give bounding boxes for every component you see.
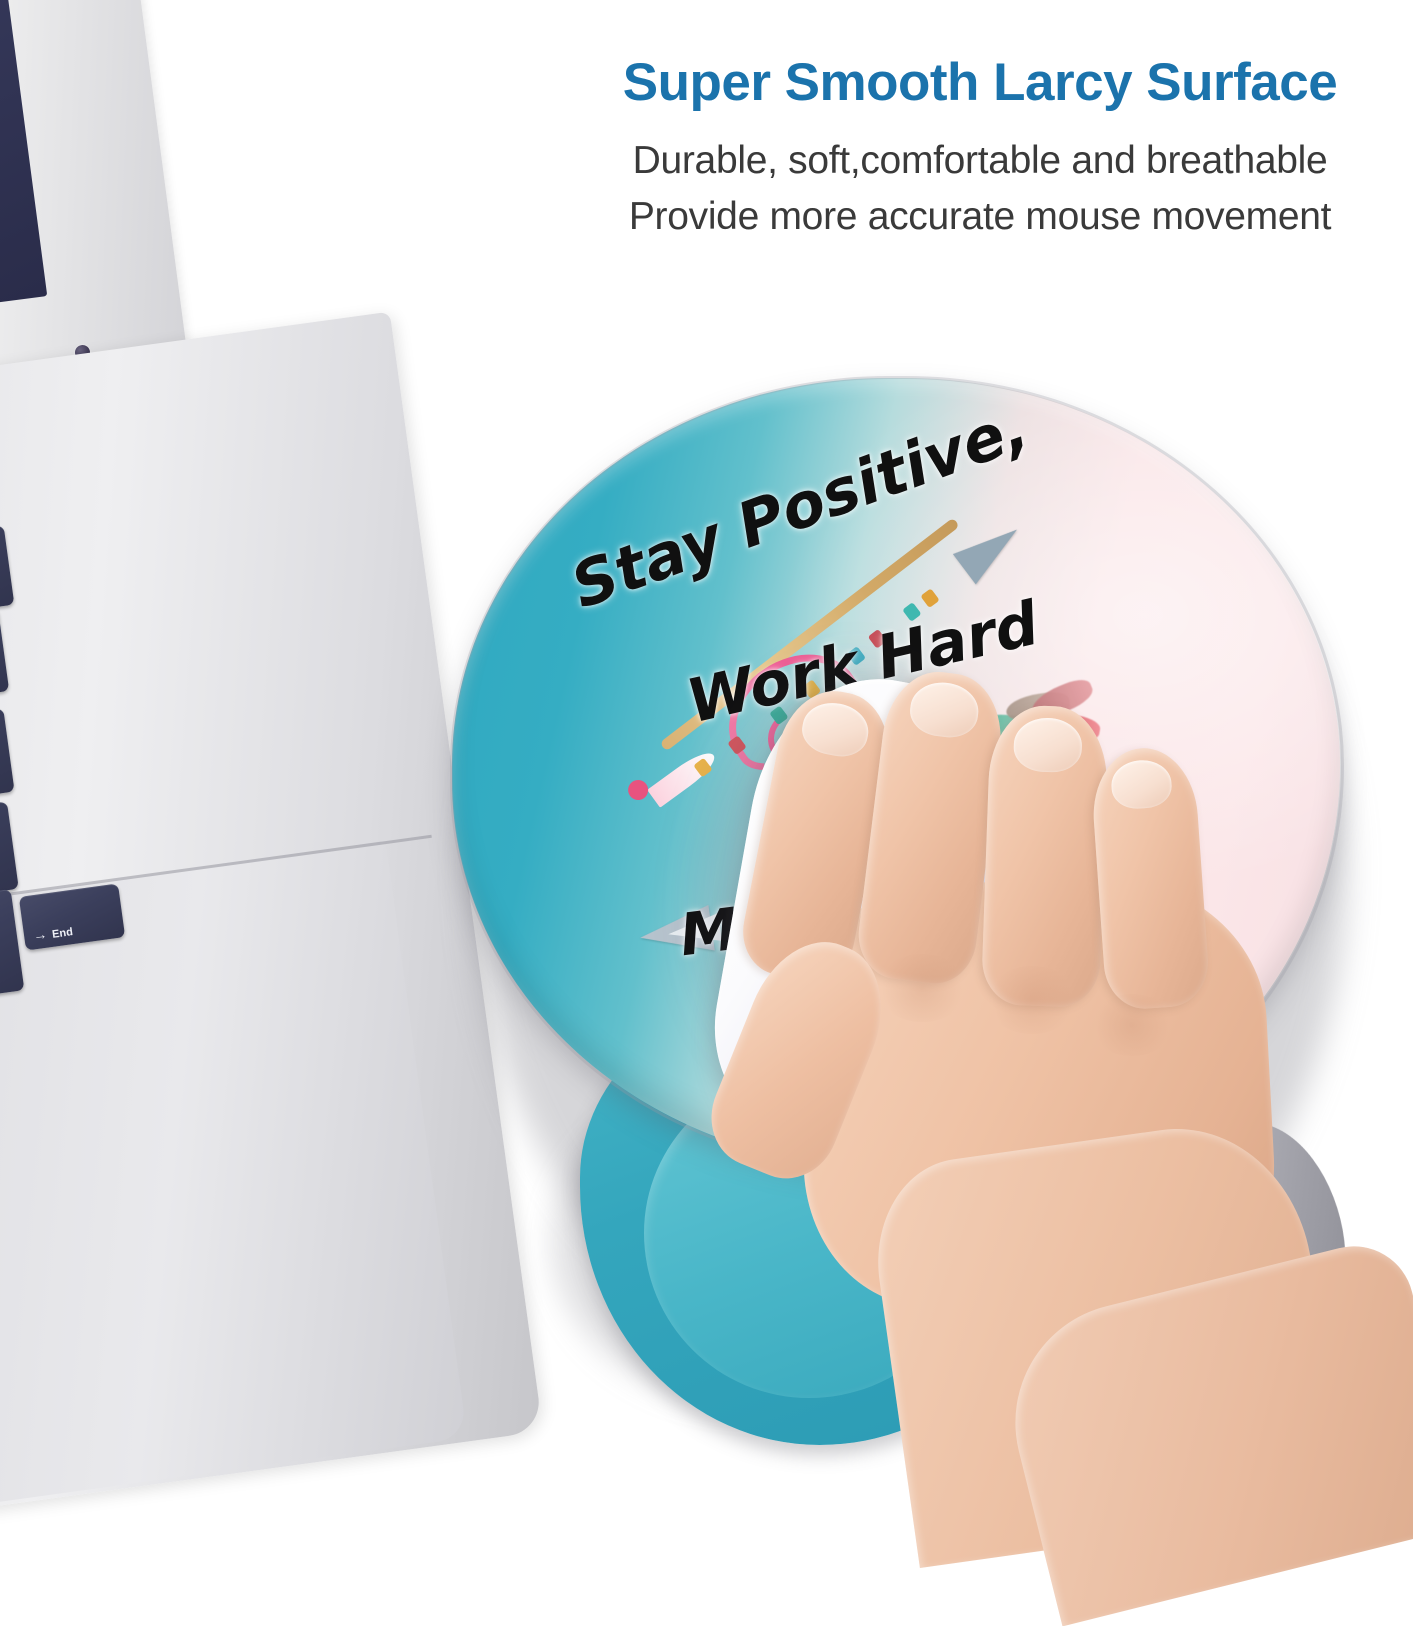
index-fingernail <box>798 698 873 762</box>
benefit-line-1: Durable, soft,comfortable and breathable <box>540 133 1413 188</box>
middle-fingernail <box>907 679 981 741</box>
knuckle-shading-1 <box>876 954 968 1022</box>
pinky-finger <box>1089 745 1211 1012</box>
marketing-copy: Super Smooth Larcy Surface Durable, soft… <box>540 54 1413 244</box>
ring-finger <box>981 704 1109 1008</box>
product-image-canvas: Delete kspace \ ↵ Enter ⇧ Shift ↑ <box>0 0 1413 1500</box>
knuckle-shading-2 <box>986 966 1078 1034</box>
pinky-fingernail <box>1110 758 1173 810</box>
page-title: Super Smooth Larcy Surface <box>540 54 1413 111</box>
ring-fingernail <box>1013 717 1083 773</box>
knuckle-shading-3 <box>1090 994 1174 1056</box>
benefit-line-2: Provide more accurate mouse movement <box>540 189 1413 244</box>
